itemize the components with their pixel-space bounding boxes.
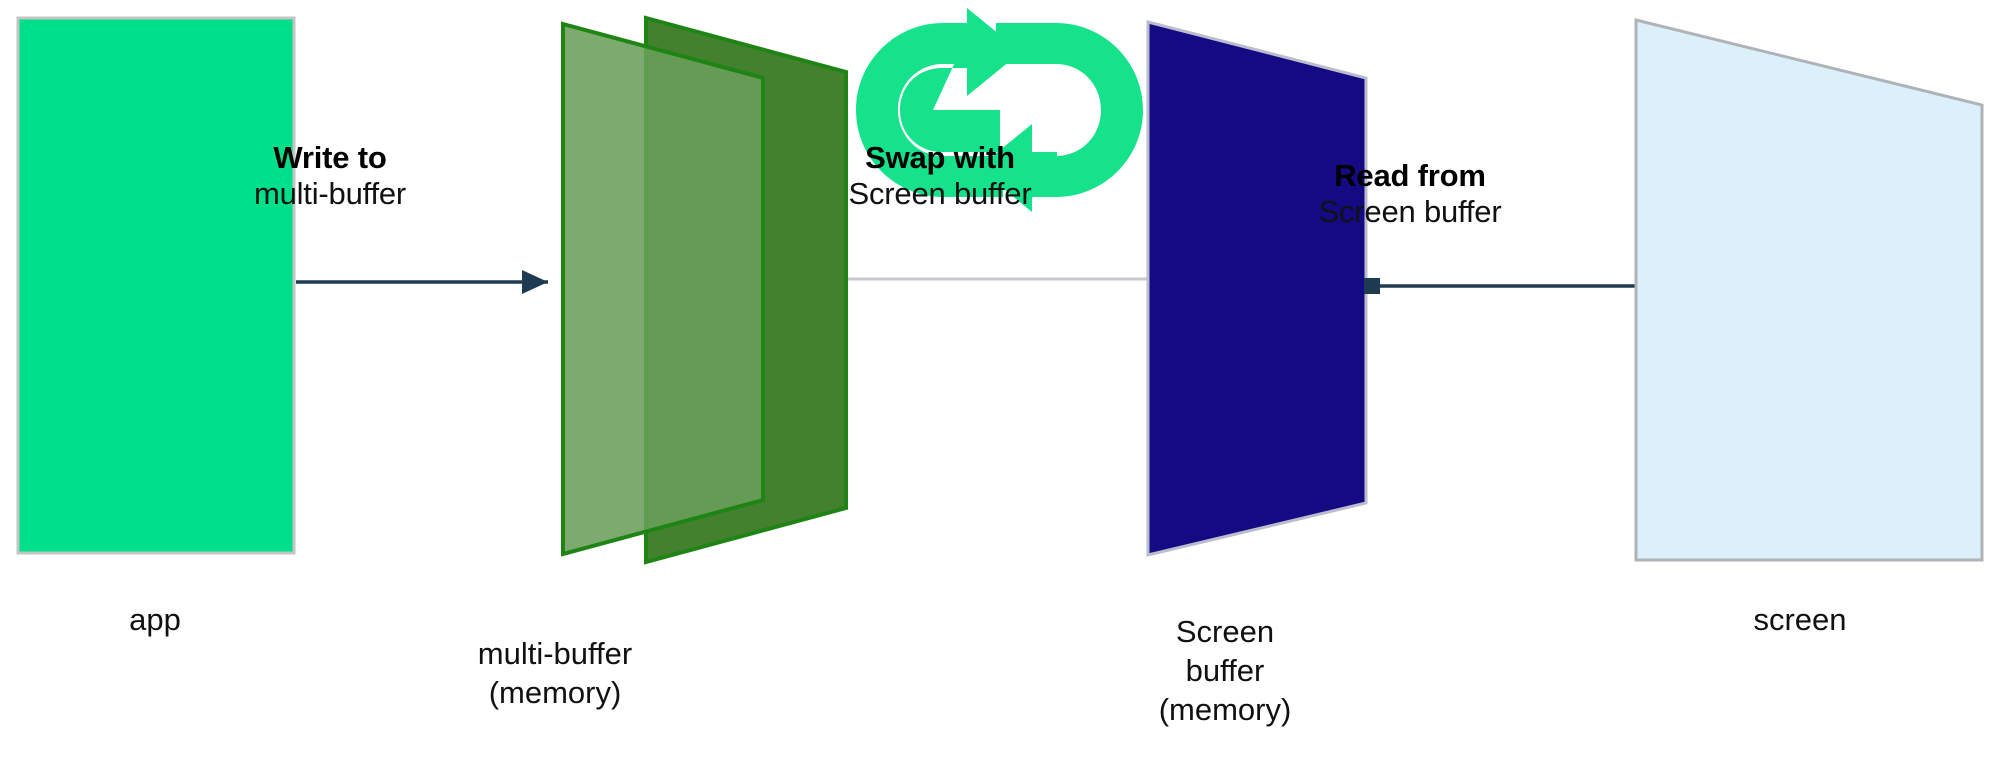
edge-label-write: Write to multi-buffer xyxy=(160,140,500,212)
edge-write[interactable] xyxy=(296,270,548,294)
screen-shape[interactable] xyxy=(1636,20,1982,560)
app-shape[interactable] xyxy=(18,18,294,553)
edge-read[interactable] xyxy=(1364,278,1640,294)
edge-label-write-line1: Write to xyxy=(160,140,500,176)
diagram-canvas: Write to multi-buffer Swap with Screen b… xyxy=(0,0,1999,771)
edge-label-swap-line2: Screen buffer xyxy=(770,176,1110,212)
node-label-screen-buffer: Screen buffer (memory) xyxy=(1100,612,1350,729)
diagram-svg xyxy=(0,0,1999,771)
node-label-screen-buffer-line3: (memory) xyxy=(1100,690,1350,729)
edge-label-read-line2: Screen buffer xyxy=(1240,194,1580,230)
edge-label-swap-line1: Swap with xyxy=(770,140,1110,176)
node-app[interactable] xyxy=(18,18,294,553)
node-label-screen: screen xyxy=(1650,600,1950,639)
node-label-screen-buffer-line2: buffer xyxy=(1100,651,1350,690)
edge-label-read-line1: Read from xyxy=(1240,158,1580,194)
screen-buffer-shape[interactable] xyxy=(1148,22,1366,555)
node-label-screen-buffer-line1: Screen xyxy=(1100,612,1350,651)
node-label-screen-line1: screen xyxy=(1650,600,1950,639)
write-arrowhead-icon xyxy=(522,270,548,294)
multi-buffer-front-sheet[interactable] xyxy=(563,24,763,554)
edge-label-read: Read from Screen buffer xyxy=(1240,158,1580,230)
node-label-app-line1: app xyxy=(0,600,310,639)
node-label-multi-buffer-line2: (memory) xyxy=(400,673,710,712)
node-label-multi-buffer: multi-buffer (memory) xyxy=(400,634,710,712)
node-label-multi-buffer-line1: multi-buffer xyxy=(400,634,710,673)
node-screen-buffer[interactable] xyxy=(1148,22,1366,555)
node-label-app: app xyxy=(0,600,310,639)
node-screen[interactable] xyxy=(1636,20,1982,560)
edge-label-swap: Swap with Screen buffer xyxy=(770,140,1110,212)
node-multi-buffer[interactable] xyxy=(563,18,846,562)
edge-label-write-line2: multi-buffer xyxy=(160,176,500,212)
